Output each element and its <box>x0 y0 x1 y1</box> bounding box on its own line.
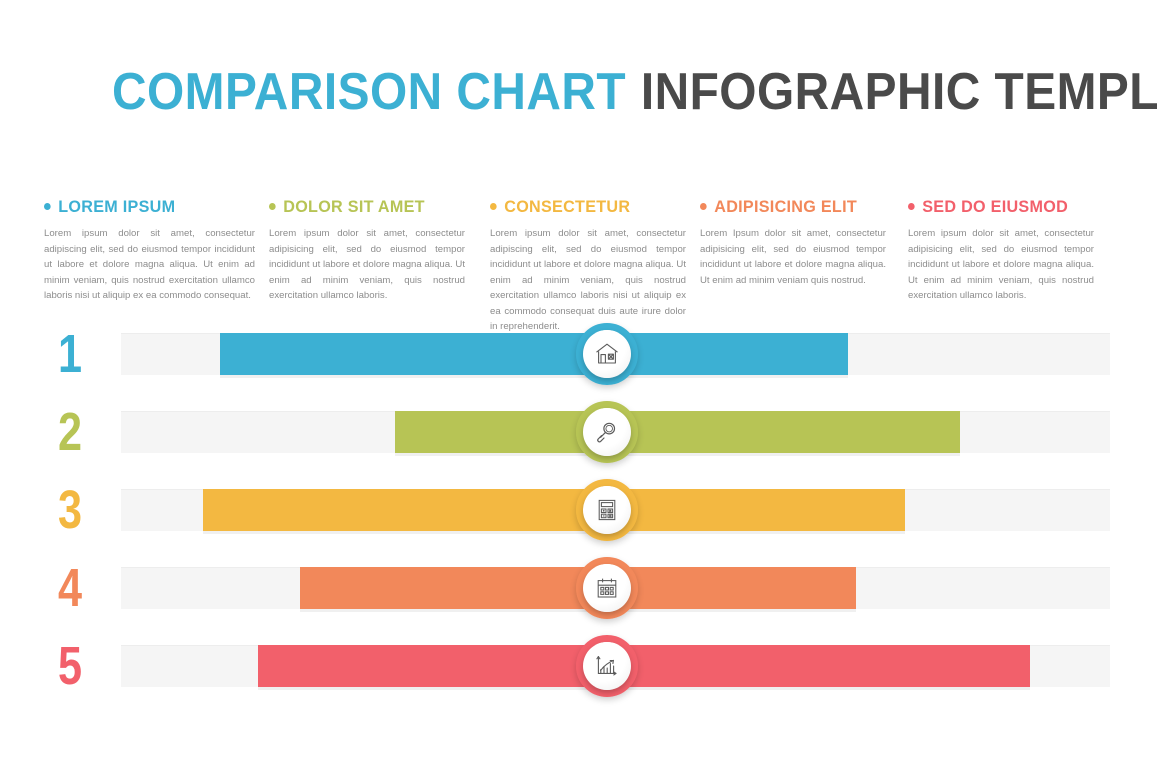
bar-row-5-fill[interactable] <box>258 645 1030 687</box>
bar-row-1-number: 1 <box>58 327 82 381</box>
calculator-icon <box>594 497 620 523</box>
column-2-heading: DOLOR SIT AMET <box>269 198 455 215</box>
badge-disc <box>583 642 631 690</box>
bar-row-1-fill[interactable] <box>220 333 848 375</box>
house-icon <box>594 341 620 367</box>
column-5: SED DO EIUSMOD Lorem ipsum dolor sit ame… <box>908 198 1094 304</box>
bar-row-4-number: 4 <box>58 561 82 615</box>
magnifier-icon <box>594 419 620 445</box>
page-title: COMPARISON CHARTINFOGRAPHIC TEMPLATE <box>112 66 1160 118</box>
column-4-heading: ADIPISICING ELIT <box>700 198 877 215</box>
column-3-heading: CONSECTETUR <box>490 198 676 215</box>
column-2-body: Lorem ipsum dolor sit amet, consectetur … <box>269 226 465 304</box>
bullet-dot-icon <box>490 203 497 210</box>
column-4: ADIPISICING ELIT Lorem Ipsum dolor sit a… <box>700 198 886 288</box>
column-3-body: Lorem ipsum dolor sit amet, consectetur … <box>490 226 686 335</box>
bullet-dot-icon <box>908 203 915 210</box>
page-title-primary: COMPARISON CHART <box>112 63 626 121</box>
column-2-heading-label: DOLOR SIT AMET <box>283 198 425 215</box>
column-5-heading: SED DO EIUSMOD <box>908 198 1085 215</box>
column-2: DOLOR SIT AMET Lorem ipsum dolor sit ame… <box>269 198 465 304</box>
bullet-dot-icon <box>700 203 707 210</box>
column-1-heading: LOREM IPSUM <box>44 198 244 215</box>
column-5-body: Lorem ipsum dolor sit amet, consectetur … <box>908 226 1094 304</box>
column-3: CONSECTETUR Lorem ipsum dolor sit amet, … <box>490 198 686 335</box>
bullet-dot-icon <box>44 203 51 210</box>
bar-row-4-badge[interactable] <box>576 557 638 619</box>
bar-row-3-badge[interactable] <box>576 479 638 541</box>
bar-row-2-fill[interactable] <box>395 411 960 453</box>
column-3-heading-label: CONSECTETUR <box>504 198 630 215</box>
badge-disc <box>583 564 631 612</box>
badge-disc <box>583 330 631 378</box>
column-1: LOREM IPSUM Lorem ipsum dolor sit amet, … <box>44 198 255 304</box>
column-4-heading-label: ADIPISICING ELIT <box>714 198 857 215</box>
bar-row-3-number: 3 <box>58 483 82 537</box>
bar-row-5-badge[interactable] <box>576 635 638 697</box>
calendar-icon <box>594 575 620 601</box>
badge-disc <box>583 408 631 456</box>
column-4-body: Lorem Ipsum dolor sit amet, consectetur … <box>700 226 886 288</box>
bar-row-2: 2 <box>0 411 1160 453</box>
bar-row-5-number: 5 <box>58 639 82 693</box>
bar-row-3-fill[interactable] <box>203 489 905 531</box>
bar-row-3: 3 <box>0 489 1160 531</box>
infographic-canvas: COMPARISON CHARTINFOGRAPHIC TEMPLATE LOR… <box>0 0 1160 772</box>
badge-disc <box>583 486 631 534</box>
bullet-dot-icon <box>269 203 276 210</box>
page-title-secondary: INFOGRAPHIC TEMPLATE <box>641 63 1160 121</box>
bar-row-2-badge[interactable] <box>576 401 638 463</box>
growth-chart-icon <box>594 653 620 679</box>
bar-row-1: 1 <box>0 333 1160 375</box>
bar-row-5: 5 <box>0 645 1160 687</box>
column-1-body: Lorem ipsum dolor sit amet, consectetur … <box>44 226 255 304</box>
column-5-heading-label: SED DO EIUSMOD <box>922 198 1068 215</box>
bar-row-1-badge[interactable] <box>576 323 638 385</box>
bar-row-2-number: 2 <box>58 405 82 459</box>
column-1-heading-label: LOREM IPSUM <box>58 198 175 215</box>
bar-row-4: 4 <box>0 567 1160 609</box>
